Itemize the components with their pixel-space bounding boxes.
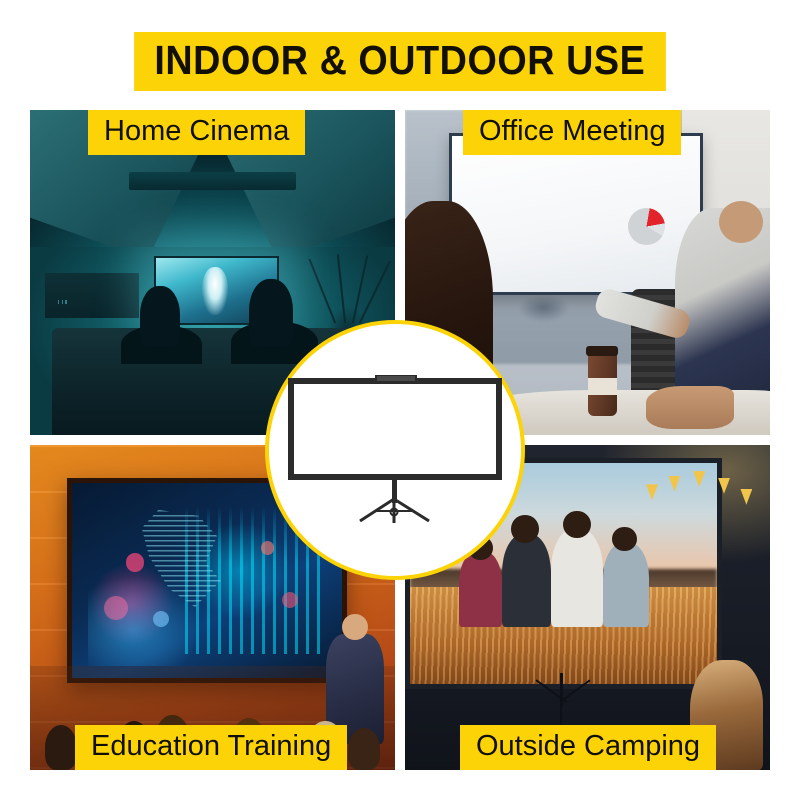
bokeh-dot bbox=[153, 611, 169, 627]
bokeh-dot bbox=[261, 541, 275, 555]
pie-chart-graphic bbox=[628, 208, 665, 245]
page-header: INDOOR & OUTDOOR USE bbox=[0, 32, 800, 91]
bunting-flag bbox=[646, 484, 658, 500]
bunting-flag bbox=[718, 478, 730, 494]
resting-hand bbox=[646, 386, 734, 428]
friend-head bbox=[612, 527, 637, 552]
bunting-flag bbox=[693, 471, 705, 487]
friend-head bbox=[511, 515, 539, 543]
caption-office-meeting: Office Meeting bbox=[463, 110, 681, 155]
string-lights bbox=[639, 465, 763, 576]
friend-figure bbox=[459, 551, 502, 626]
bunting-flag bbox=[668, 476, 680, 492]
bokeh-dot bbox=[104, 596, 128, 620]
product-badge[interactable] bbox=[265, 320, 525, 580]
tripod-projector-screen-icon bbox=[288, 375, 502, 525]
viewer-head bbox=[249, 279, 293, 347]
audience-head bbox=[348, 728, 381, 770]
bunting-flag bbox=[740, 489, 752, 505]
book bbox=[62, 300, 64, 304]
friend-figure bbox=[551, 529, 603, 626]
viewer-head bbox=[140, 286, 180, 348]
caption-home-cinema: Home Cinema bbox=[88, 110, 305, 155]
coffee-cup bbox=[588, 351, 617, 416]
houseplant bbox=[315, 227, 381, 338]
book bbox=[58, 300, 60, 304]
tripod-leg bbox=[559, 679, 590, 702]
friend-figure bbox=[502, 534, 551, 627]
caption-outside-camping: Outside Camping bbox=[460, 725, 716, 770]
bookshelf bbox=[45, 273, 140, 319]
audience-head bbox=[45, 725, 78, 771]
twig bbox=[336, 254, 345, 322]
ceiling-beam bbox=[129, 172, 297, 190]
page-title: INDOOR & OUTDOOR USE bbox=[134, 32, 665, 91]
friend-head bbox=[563, 511, 591, 539]
caption-education-training: Education Training bbox=[75, 725, 347, 770]
bokeh-dot bbox=[126, 553, 145, 572]
presenter-head bbox=[719, 201, 763, 243]
book bbox=[65, 300, 67, 304]
